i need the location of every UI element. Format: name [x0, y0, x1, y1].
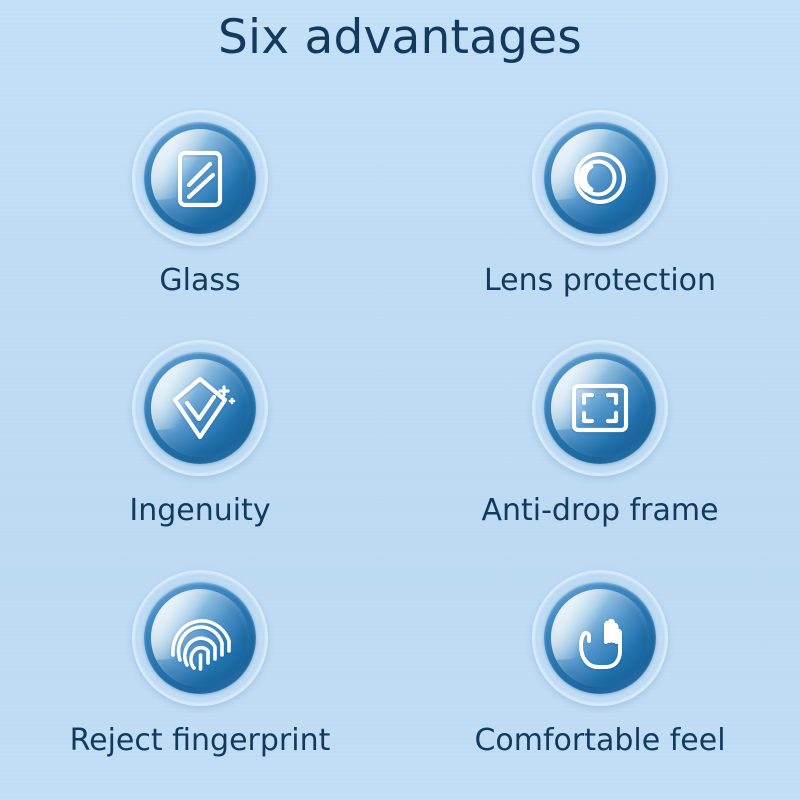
advantage-badge: [532, 110, 668, 246]
badge-disc: [551, 359, 649, 457]
advantage-badge: [132, 570, 268, 706]
advantage-label: Anti-drop frame: [481, 493, 718, 529]
advantage-label: Ingenuity: [129, 493, 270, 529]
advantage-badge: [532, 570, 668, 706]
advantage-item-reject-fingerprint: Reject fingerprint: [0, 568, 400, 798]
advantages-grid: Glass Lens protection: [0, 108, 800, 800]
advantage-item-ingenuity: Ingenuity: [0, 338, 400, 568]
advantage-item-glass: Glass: [0, 108, 400, 338]
advantage-badge: [132, 110, 268, 246]
advantage-badge: [132, 340, 268, 476]
six-advantages-page: Six advantages Glass: [0, 0, 800, 800]
page-title: Six advantages: [0, 6, 800, 70]
badge-disc: [551, 589, 649, 687]
badge-disc: [551, 129, 649, 227]
badge-disc: [151, 359, 249, 457]
advantage-label: Comfortable feel: [474, 723, 725, 759]
advantage-item-lens-protection: Lens protection: [400, 108, 800, 338]
advantage-item-comfortable-feel: Comfortable feel: [400, 568, 800, 798]
advantage-badge: [532, 340, 668, 476]
advantage-item-anti-drop-frame: Anti-drop frame: [400, 338, 800, 568]
badge-disc: [151, 129, 249, 227]
advantage-label: Reject fingerprint: [70, 723, 331, 759]
advantage-label: Glass: [159, 263, 240, 299]
advantage-label: Lens protection: [484, 263, 716, 299]
badge-disc: [151, 589, 249, 687]
